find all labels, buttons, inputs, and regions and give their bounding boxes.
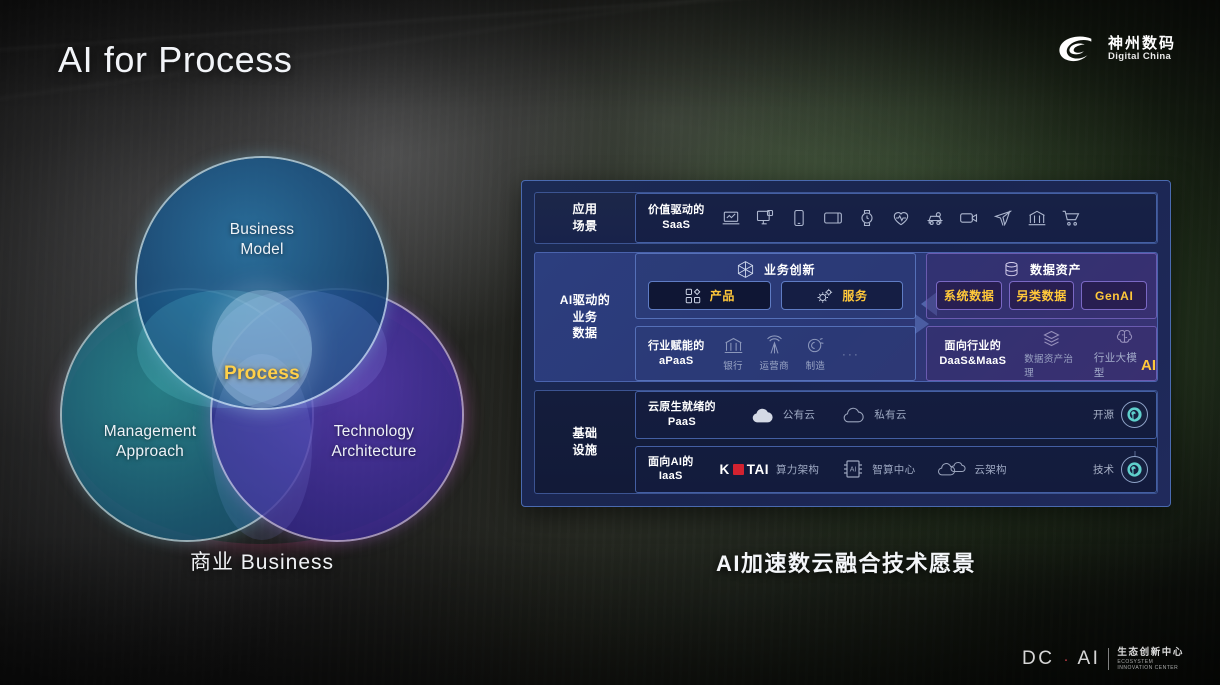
pill-label-service: 服务: [842, 287, 867, 304]
pill-label-product: 产品: [710, 287, 735, 304]
badge-label-open-source: 开源: [1093, 407, 1114, 422]
application-icon-row: [717, 208, 1081, 228]
video-camera-icon: [959, 208, 979, 228]
open-source-badge-group: 开源: [1093, 401, 1156, 428]
tag-manufacturing: 制造: [805, 335, 826, 372]
footer-logo-ai: AI: [1077, 648, 1100, 670]
gears-icon: [816, 287, 834, 305]
heartbeat-icon: [891, 208, 911, 228]
tag-label-cloud-architecture: 云架构: [974, 462, 1006, 477]
cell-title-ai-iaas: 面向AI的 IaaS: [636, 455, 706, 484]
tag-label-data-governance: 数据资产治理: [1024, 351, 1078, 379]
band-application-scenarios: 应用 场景 价值驱动的 SaaS: [534, 192, 1158, 244]
antenna-icon: [764, 335, 785, 356]
tag-label-manufacturing: 制造: [806, 358, 826, 372]
tag-accent-ai: AI: [1141, 357, 1156, 374]
venn-label-process: Process: [212, 363, 312, 385]
blocks-icon: [684, 287, 702, 305]
venn-label-technology-architecture: Technology Architecture: [294, 422, 454, 461]
badge-label-technology: 技术: [1093, 462, 1114, 477]
cloud-filled-icon: [750, 402, 776, 428]
smartwatch-icon: [857, 208, 877, 228]
smartphone-icon: [789, 208, 809, 228]
band-label-application: 应用 场景: [535, 193, 635, 243]
apaas-tag-row: 银行 运营商 制造 ···: [717, 335, 860, 372]
brand-logo: 神州数码 Digital China: [1057, 34, 1176, 64]
band-ai-driven-business-data: AI驱动的 业务 数据 业务创新 产品: [534, 252, 1158, 382]
shopping-cart-icon: [1061, 208, 1081, 228]
section-head-data-assets: 数据资产: [927, 255, 1156, 281]
pill-label-genai: GenAI: [1095, 289, 1133, 303]
brain-model-icon: [1114, 327, 1135, 348]
tag-label-bank: 银行: [723, 358, 743, 372]
airplane-icon: [993, 208, 1013, 228]
ai-chip-icon: AI: [841, 457, 865, 481]
tag-private-cloud: 私有云: [841, 402, 906, 428]
footer-logo-en: ECOSYSTEM INNOVATION CENTER: [1117, 659, 1184, 672]
factory-gear-icon: [805, 335, 826, 356]
car-icon: [925, 208, 945, 228]
architecture-panel: 应用 场景 价值驱动的 SaaS: [521, 180, 1171, 507]
footer-logo-cn: 生态创新中心: [1117, 648, 1184, 659]
pill-system-data[interactable]: 系统数据: [936, 281, 1002, 310]
desktop-monitor-icon: [755, 208, 775, 228]
tag-label-ai-compute-center: 智算中心: [872, 462, 915, 477]
pill-alternative-data[interactable]: 另类数据: [1009, 281, 1075, 310]
bank-icon: [723, 335, 744, 356]
cell-title-industry-apaas: 行业赋能的 aPaaS: [636, 339, 717, 368]
pill-label-alternative-data: 另类数据: [1016, 287, 1066, 304]
pill-label-system-data: 系统数据: [944, 287, 994, 304]
footer-logo-divider: [1108, 648, 1109, 670]
tag-bank: 银行: [723, 335, 744, 372]
band-infrastructure: 基础 设施 云原生就绪的 PaaS 公有云 私有云 开源: [534, 390, 1158, 494]
section-head-label-data-assets: 数据资产: [1030, 261, 1081, 278]
tag-label-private-cloud: 私有云: [874, 407, 906, 422]
svg-text:AI: AI: [850, 467, 857, 474]
footer-logo-dc: DC: [1022, 648, 1054, 670]
cube-network-icon: [736, 260, 755, 279]
venn-label-management-approach: Management Approach: [70, 422, 230, 461]
cell-title-cloud-native-paas: 云原生就绪的 PaaS: [636, 400, 728, 429]
openatom-icon: [1121, 401, 1148, 428]
footer-logo: DC · AI 生态创新中心 ECOSYSTEM INNOVATION CENT…: [1022, 648, 1184, 671]
tag-public-cloud: 公有云: [750, 402, 815, 428]
pill-service[interactable]: 服务: [781, 281, 904, 310]
tag-cloud-architecture: 云架构: [937, 457, 1006, 481]
daas-tag-row: 数据资产治理 行业大模型 AI: [1018, 327, 1156, 380]
brand-name-en: Digital China: [1108, 52, 1176, 62]
technology-badge-group: 技术: [1093, 456, 1156, 483]
tag-operator: 运营商: [760, 335, 789, 372]
tag-label-public-cloud: 公有云: [783, 407, 815, 422]
venn-diagram: Business Model Management Approach Techn…: [62, 158, 462, 510]
band-label-ai-driven: AI驱动的 业务 数据: [535, 253, 635, 381]
kuntai-logo: KUNTAI KTAI: [720, 462, 770, 477]
venn-label-business-model: Business Model: [187, 220, 337, 259]
digital-china-swirl-icon: [1057, 34, 1099, 64]
data-governance-icon: [1041, 328, 1062, 349]
bank-icon: [1027, 208, 1047, 228]
venn-caption: 商业 Business: [62, 546, 462, 576]
page-title: AI for Process: [58, 39, 292, 81]
tablet-icon: [823, 208, 843, 228]
tag-label-compute-architecture: 算力架构: [776, 462, 819, 477]
database-icon: [1002, 260, 1021, 279]
brand-name-cn: 神州数码: [1108, 36, 1176, 52]
openatom-icon: [1121, 456, 1148, 483]
footer-logo-dot: ·: [1063, 651, 1068, 668]
band-label-infrastructure: 基础 设施: [535, 391, 635, 493]
tag-data-governance: 数据资产治理: [1024, 328, 1078, 379]
section-head-label-business-innovation: 业务创新: [764, 261, 815, 278]
cell-title-daas-maas: 面向行业的 DaaS&MaaS: [927, 339, 1018, 368]
multi-cloud-icon: [937, 457, 967, 481]
tag-label-operator: 运营商: [760, 358, 789, 372]
cell-title-value-driven-saas: 价值驱动的 SaaS: [636, 203, 717, 232]
kuntai-logo-square: [733, 464, 744, 475]
laptop-chart-icon: [721, 208, 741, 228]
section-head-business-innovation: 业务创新: [636, 255, 915, 281]
tag-label-industry-model: 行业大模型: [1094, 350, 1142, 380]
tag-kuntai-compute: KUNTAI KTAI 算力架构: [720, 462, 820, 477]
pill-genai[interactable]: GenAI: [1081, 281, 1147, 310]
apaas-more-ellipsis: ···: [842, 347, 860, 361]
tag-ai-compute-center: AI 智算中心: [841, 457, 915, 481]
pill-product[interactable]: 产品: [648, 281, 771, 310]
cloud-outline-icon: [841, 402, 867, 428]
architecture-caption: AI加速数云融合技术愿景: [521, 546, 1171, 578]
tag-industry-model: 行业大模型 AI: [1094, 327, 1156, 380]
